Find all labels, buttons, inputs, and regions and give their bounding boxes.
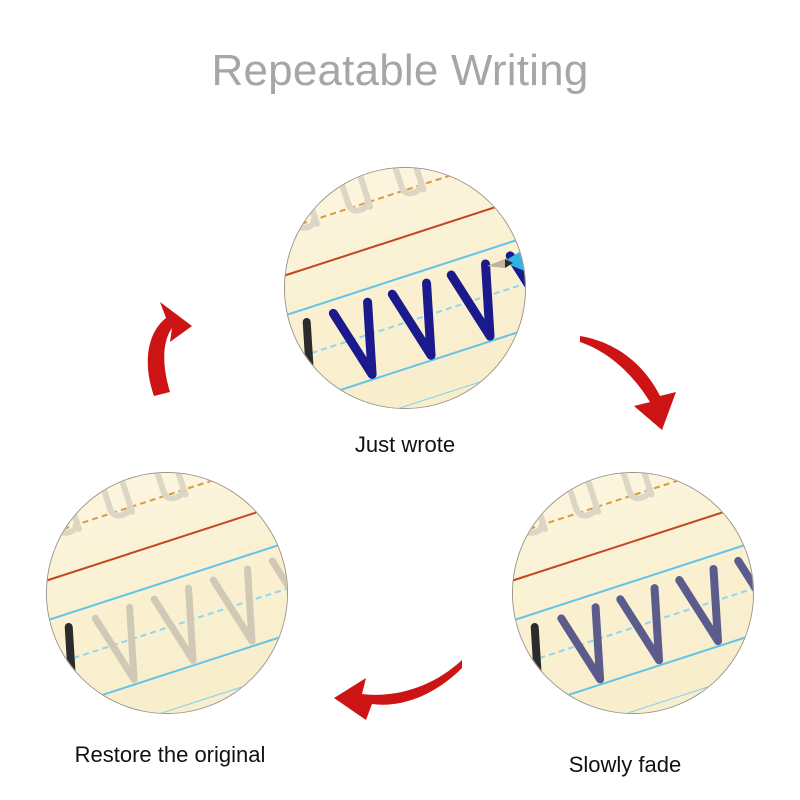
- step-label-slowly-fade: Slowly fade: [505, 752, 745, 778]
- arrow-fade-to-restore-icon: [328, 652, 464, 744]
- page-title: Repeatable Writing: [0, 46, 800, 96]
- handwriting-glyphs-slowly-fade: [513, 473, 753, 713]
- worksheet-sheet: 伞: [47, 473, 287, 713]
- pen-tip-icon: [483, 246, 525, 276]
- handwriting-glyphs-just-wrote: [285, 168, 525, 408]
- worksheet-sheet: 伞: [513, 473, 753, 713]
- step-label-just-wrote: Just wrote: [285, 432, 525, 458]
- step-photo-slowly-fade: 伞: [513, 473, 753, 713]
- step-photo-just-wrote: [285, 168, 525, 408]
- worksheet-sheet: [285, 168, 525, 408]
- arrow-wrote-to-fade-icon: [578, 330, 696, 442]
- handwriting-glyphs-restore-original: [47, 473, 287, 713]
- step-label-restore-original: Restore the original: [40, 742, 300, 768]
- step-photo-restore-original: 伞: [47, 473, 287, 713]
- infographic-stage: Repeatable Writing: [0, 0, 800, 800]
- arrow-restore-to-wrote-icon: [130, 288, 242, 400]
